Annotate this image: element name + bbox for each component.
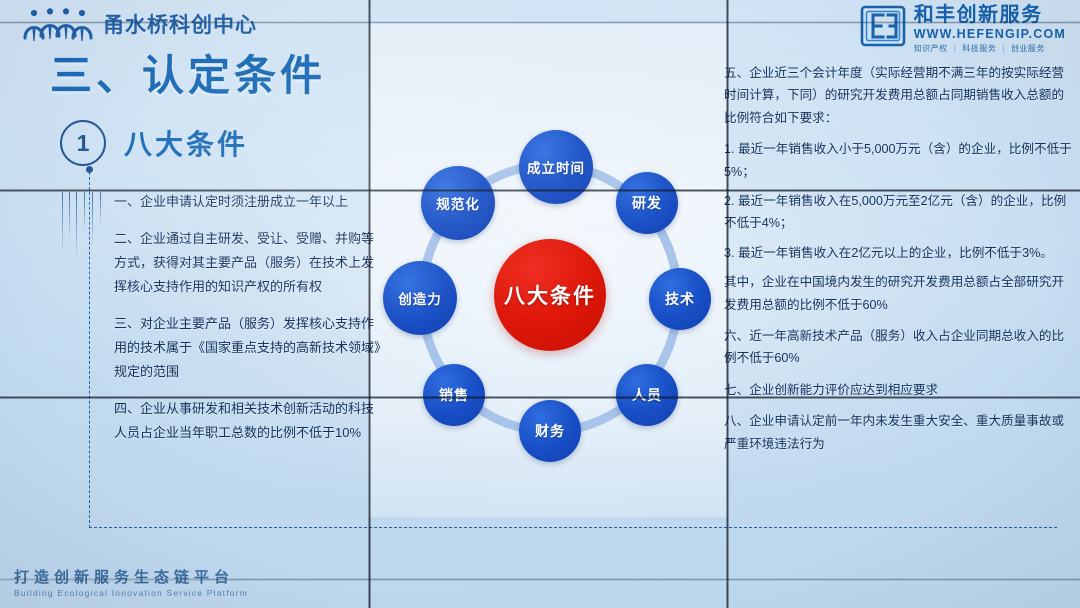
node-label: 财务 xyxy=(535,421,565,441)
condition-item-5-note: 其中，企业在中国境内发生的研究开发费用总额占全部研究开发费用总额的比例不低于60… xyxy=(724,271,1072,316)
tag-separator-2: | xyxy=(1002,44,1005,53)
node-rnd[interactable]: 研发 xyxy=(616,172,678,234)
people-arcs-icon xyxy=(22,8,94,42)
brand-right-tags: 知识产权 | 科技服务 | 创业服务 xyxy=(914,43,1066,54)
node-label: 研发 xyxy=(632,193,662,213)
diagram-center: 八大条件 xyxy=(494,239,606,351)
node-sales[interactable]: 销售 xyxy=(423,364,485,426)
condition-item-4: 四、企业从事研发和相关技术创新活动的科技人员占企业当年职工总数的比例不低于10% xyxy=(114,397,382,445)
brand-tag-tech: 科技服务 xyxy=(962,43,996,54)
section-number-badge: 1 xyxy=(60,120,106,166)
node-creativity[interactable]: 创造力 xyxy=(383,261,457,335)
brand-tag-startup: 创业服务 xyxy=(1011,43,1045,54)
conditions-right-column: 五、企业近三个会计年度（实际经营期不满三年的按实际经营时间计算，下同）的研究开发… xyxy=(724,62,1072,464)
condition-item-5-sub-2: 2. 最近一年销售收入在5,000万元至2亿元（含）的企业，比例不低于4%； xyxy=(724,190,1072,235)
node-label: 创造力 xyxy=(398,288,442,308)
node-finance[interactable]: 财务 xyxy=(519,400,581,462)
page-title: 三、认定条件 xyxy=(50,54,326,98)
footer-slogan-zh: 打造创新服务生态链平台 xyxy=(14,570,248,587)
brand-tag-ip: 知识产权 xyxy=(914,43,948,54)
decorative-bars xyxy=(60,192,106,262)
conditions-left-column: 一、企业申请认定时须注册成立一年以上 二、企业通过自主研发、受让、受赠、并购等方… xyxy=(114,190,382,458)
brand-right-name: 和丰创新服务 xyxy=(914,5,1066,26)
node-standardization[interactable]: 规范化 xyxy=(421,166,495,240)
node-label: 技术 xyxy=(665,289,695,309)
tag-separator-1: | xyxy=(954,44,957,53)
hefeng-square-e-icon xyxy=(860,4,906,48)
node-technology[interactable]: 技术 xyxy=(649,268,711,330)
section-subtitle: 八大条件 xyxy=(124,123,248,163)
video-wall-screen: 甬水桥科创中心 和丰创新服务 WWW.HEFENGIP.COM 知识产权 xyxy=(0,0,1080,608)
node-label: 销售 xyxy=(439,385,469,405)
node-label: 规范化 xyxy=(436,193,480,213)
condition-item-2: 二、企业通过自主研发、受让、受赠、并购等方式，获得对其主要产品（服务）在技术上发… xyxy=(114,227,382,299)
condition-item-1: 一、企业申请认定时须注册成立一年以上 xyxy=(114,190,382,214)
footer-divider xyxy=(200,579,1080,580)
node-personnel[interactable]: 人员 xyxy=(616,364,678,426)
footer-slogan-en: Building Ecological Innovation Service P… xyxy=(14,588,248,598)
condition-item-7: 七、企业创新能力评价应达到相应要求 xyxy=(724,379,1072,401)
node-label: 成立时间 xyxy=(527,157,585,177)
condition-item-5: 五、企业近三个会计年度（实际经营期不满三年的按实际经营时间计算，下同）的研究开发… xyxy=(724,62,1072,129)
condition-item-8: 八、企业申请认定前一年内未发生重大安全、重大质量事故或严重环境违法行为 xyxy=(724,410,1072,455)
node-established-time[interactable]: 成立时间 xyxy=(519,130,593,204)
brand-left-name: 甬水桥科创中心 xyxy=(103,15,257,36)
eight-conditions-diagram: 成立时间 研发 技术 人员 财务 销售 创造力 规范化 八大条件 xyxy=(383,128,713,468)
center-label: 八大条件 xyxy=(504,280,596,310)
brand-right-url: WWW.HEFENGIP.COM xyxy=(914,27,1066,41)
condition-item-5-sub-1: 1. 最近一年销售收入小于5,000万元（含）的企业，比例不低于5%； xyxy=(724,138,1072,183)
brand-left: 甬水桥科创中心 xyxy=(22,8,257,42)
condition-item-3: 三、对企业主要产品（服务）发挥核心支持作用的技术属于《国家重点支持的高新技术领域… xyxy=(114,312,382,384)
footer: 打造创新服务生态链平台 Building Ecological Innovati… xyxy=(14,570,248,599)
brand-right: 和丰创新服务 WWW.HEFENGIP.COM 知识产权 | 科技服务 | 创业… xyxy=(860,4,1066,54)
section-heading: 1 八大条件 xyxy=(60,120,248,166)
condition-item-5-sub-3: 3. 最近一年销售收入在2亿元以上的企业，比例不低于3%。 xyxy=(724,242,1072,264)
condition-item-6: 六、近一年高新技术产品（服务）收入占企业同期总收入的比例不低于60% xyxy=(724,325,1072,370)
node-label: 人员 xyxy=(632,385,662,405)
